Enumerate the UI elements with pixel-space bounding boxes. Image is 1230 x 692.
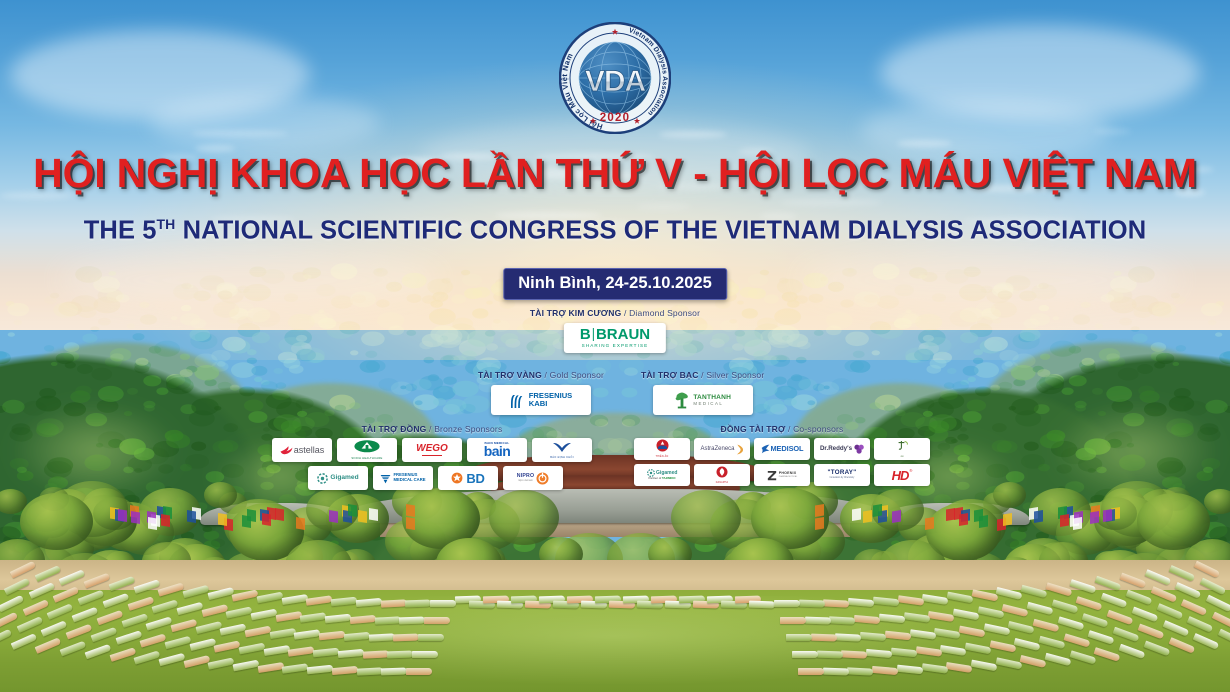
medisol-icon	[761, 444, 770, 454]
tanthanh-line2: MEDICAL	[693, 401, 731, 406]
tajimiko-name: TAJIMIKO	[662, 476, 676, 480]
dr-reddys-name: Dr.Reddy's	[820, 446, 852, 452]
bidiphar-tagline: BẢO ĐỊNH KHÔI	[550, 457, 574, 460]
gold-sponsor-tier: TÀI TRỢ VÀNG / Gold Sponsor FRESENIUS KA…	[478, 370, 604, 415]
vda-center-text: VDA	[585, 65, 646, 98]
bidiphar-v-icon	[552, 442, 572, 453]
fresenius-kabi-icon	[510, 392, 525, 409]
nipro-tagline: nipro vietnam	[517, 480, 534, 483]
sponsor-logo-astellas[interactable]: astellas	[272, 438, 332, 462]
conference-poster: Hội Lọc Máu Việt Nam Vietnam Dialysis As…	[0, 0, 1230, 692]
co-sponsor-tier: ĐỒNG TÀI TRỢ / Co-sponsors THIÊN ÂN	[634, 424, 930, 490]
diamond-label-vi: TÀI TRỢ KIM CƯƠNG	[530, 308, 622, 318]
fresenius-kabi-line2: KABI	[529, 400, 572, 408]
bbraun-tagline: SHARING EXPERTISE	[580, 344, 650, 349]
sponsor-logo-nipro[interactable]: NIPRO nipro vietnam	[503, 466, 563, 490]
sponsor-logo-tanthanh-medical[interactable]: TANTHANH MEDICAL	[653, 385, 753, 415]
gold-label-vi: TÀI TRỢ VÀNG	[478, 370, 542, 380]
gold-separator: /	[542, 370, 550, 380]
sponsor-logo-gigamed[interactable]: Gigamed	[308, 466, 368, 490]
bain-name: bain	[484, 444, 510, 458]
nipro-icon	[536, 472, 549, 485]
dr-reddys-icon	[854, 444, 864, 454]
bd-icon	[451, 472, 463, 484]
sponsor-logo-toray[interactable]: "TORAY" Innovation by Chemistry	[814, 464, 870, 486]
bronze-label-en: Bronze Sponsors	[434, 424, 502, 434]
thien-an-name: THIÊN ÂN	[656, 456, 669, 458]
sponsor-logo-gigamed-tajimiko[interactable]: Gigamed Partner of TAJIMIKO	[634, 464, 690, 486]
jw-pharma-name: JW	[895, 456, 909, 458]
danapha-icon	[716, 466, 728, 478]
co-separator: /	[785, 424, 793, 434]
subhead-post: NATIONAL SCIENTIFIC CONGRESS OF THE VIET…	[175, 217, 1146, 245]
fmc-line2: MEDICAL CARE	[393, 478, 425, 483]
gigamed-tajimiko-line1: Gigamed	[656, 471, 677, 476]
hd-pharma-registered-icon: ®	[909, 469, 912, 473]
bronze-tier-label: TÀI TRỢ ĐỒNG / Bronze Sponsors	[272, 424, 592, 434]
medisol-name: MEDISOL	[771, 445, 804, 452]
vda-logo: Hội Lọc Máu Việt Nam Vietnam Dialysis As…	[559, 22, 671, 139]
headline-english: THE 5TH NATIONAL SCIENTIFIC CONGRESS OF …	[0, 216, 1230, 246]
co-label-vi: ĐỒNG TÀI TRỢ	[721, 424, 786, 434]
z-phoenix-icon	[767, 470, 777, 481]
sinoh-icon	[354, 440, 380, 453]
bronze-sponsor-tier: TÀI TRỢ ĐỒNG / Bronze Sponsors astellas	[272, 424, 592, 494]
astrazeneca-name: AstraZeneca	[700, 446, 734, 452]
fresenius-medical-care-icon	[380, 473, 391, 484]
sponsor-logo-fresenius-medical-care[interactable]: FRESENIUS MEDICAL CARE	[373, 466, 433, 490]
bd-name: BD	[466, 472, 484, 485]
thien-an-icon	[656, 439, 669, 452]
astrazeneca-ribbon-icon	[736, 444, 744, 455]
bronze-label-vi: TÀI TRỢ ĐỒNG	[362, 424, 427, 434]
diamond-sponsor-tier: TÀI TRỢ KIM CƯƠNG / Diamond Sponsor B BR…	[530, 308, 700, 353]
toray-tagline: Innovation by Chemistry	[828, 477, 857, 479]
sponsor-logo-hd-pharma[interactable]: HD ®	[874, 464, 930, 486]
sponsor-logo-bain-medical[interactable]: BAIN MEDICAL bain	[467, 438, 527, 462]
sponsor-logo-z-phoenix[interactable]: PHOENIX PHARMACEUTICAL	[754, 464, 810, 486]
gigamed-name: Gigamed	[330, 475, 358, 482]
silver-sponsor-tier: TÀI TRỢ BẠC / Silver Sponsor TANTHANH ME…	[641, 370, 764, 415]
sponsor-logo-bidiphar[interactable]: BẢO ĐỊNH KHÔI	[532, 438, 592, 462]
astellas-flame-icon	[280, 445, 293, 455]
sponsor-logo-sinoh-healthcare[interactable]: SINOH HEALTHCARE	[337, 438, 397, 462]
astellas-name: astellas	[294, 446, 325, 455]
jw-pharma-icon	[895, 440, 909, 452]
sinoh-tagline: SINOH HEALTHCARE	[351, 458, 382, 461]
tanthanh-tree-icon	[674, 391, 690, 409]
subhead-pre: THE 5	[84, 217, 157, 245]
hd-pharma-name: HD	[892, 469, 909, 482]
cloud	[150, 95, 380, 150]
bbraun-name: BRAUN	[596, 327, 650, 342]
co-label-en: Co-sponsors	[793, 424, 843, 434]
sponsor-logo-dr-reddys[interactable]: Dr.Reddy's	[814, 438, 870, 460]
sponsor-logo-wego[interactable]: WEGO	[402, 438, 462, 462]
tanthanh-line1: TANTHANH	[693, 394, 731, 402]
sponsor-logo-bd[interactable]: BD	[438, 466, 498, 490]
headline-vietnamese: HỘI NGHỊ KHOA HỌC LẦN THỨ V - HỘI LỌC MÁ…	[0, 150, 1230, 197]
sponsor-logo-medisol[interactable]: MEDISOL	[754, 438, 810, 460]
sponsor-logo-vietnam-medical[interactable]: THIÊN ÂN	[634, 438, 690, 460]
danapha-name: DANAPHA	[716, 482, 729, 484]
silver-tier-label: TÀI TRỢ BẠC / Silver Sponsor	[641, 370, 764, 380]
gigamed-icon	[317, 473, 328, 484]
vda-year: 2020	[600, 112, 630, 124]
gold-tier-label: TÀI TRỢ VÀNG / Gold Sponsor	[478, 370, 604, 380]
co-tier-label: ĐỒNG TÀI TRỢ / Co-sponsors	[634, 424, 930, 434]
silver-label-vi: TÀI TRỢ BẠC	[641, 370, 699, 380]
sponsor-logo-b-braun[interactable]: B BRAUN SHARING EXPERTISE	[564, 323, 666, 353]
subhead-ordinal: TH	[157, 216, 176, 232]
sponsor-logo-jw-pharma[interactable]: JW	[874, 438, 930, 460]
z-phoenix-tagline: PHARMACEUTICAL	[779, 476, 797, 478]
silver-label-en: Silver Sponsor	[706, 370, 764, 380]
wego-underline	[422, 455, 442, 456]
diamond-label-en: Diamond Sponsor	[629, 308, 700, 318]
sponsor-logo-danapha[interactable]: DANAPHA	[694, 464, 750, 486]
bbraun-divider	[593, 328, 594, 341]
bbraun-b: B	[580, 327, 591, 342]
toray-name: "TORAY"	[828, 470, 857, 476]
diamond-tier-label: TÀI TRỢ KIM CƯƠNG / Diamond Sponsor	[530, 308, 700, 318]
date-location-badge: Ninh Bình, 24-25.10.2025	[503, 268, 727, 300]
gold-label-en: Gold Sponsor	[550, 370, 604, 380]
wego-name: WEGO	[416, 444, 448, 454]
gigamed-tajimiko-line2: Partner of TAJIMIKO	[647, 477, 678, 480]
sponsor-logo-astrazeneca[interactable]: AstraZeneca	[694, 438, 750, 460]
sponsor-logo-fresenius-kabi[interactable]: FRESENIUS KABI	[491, 385, 591, 415]
